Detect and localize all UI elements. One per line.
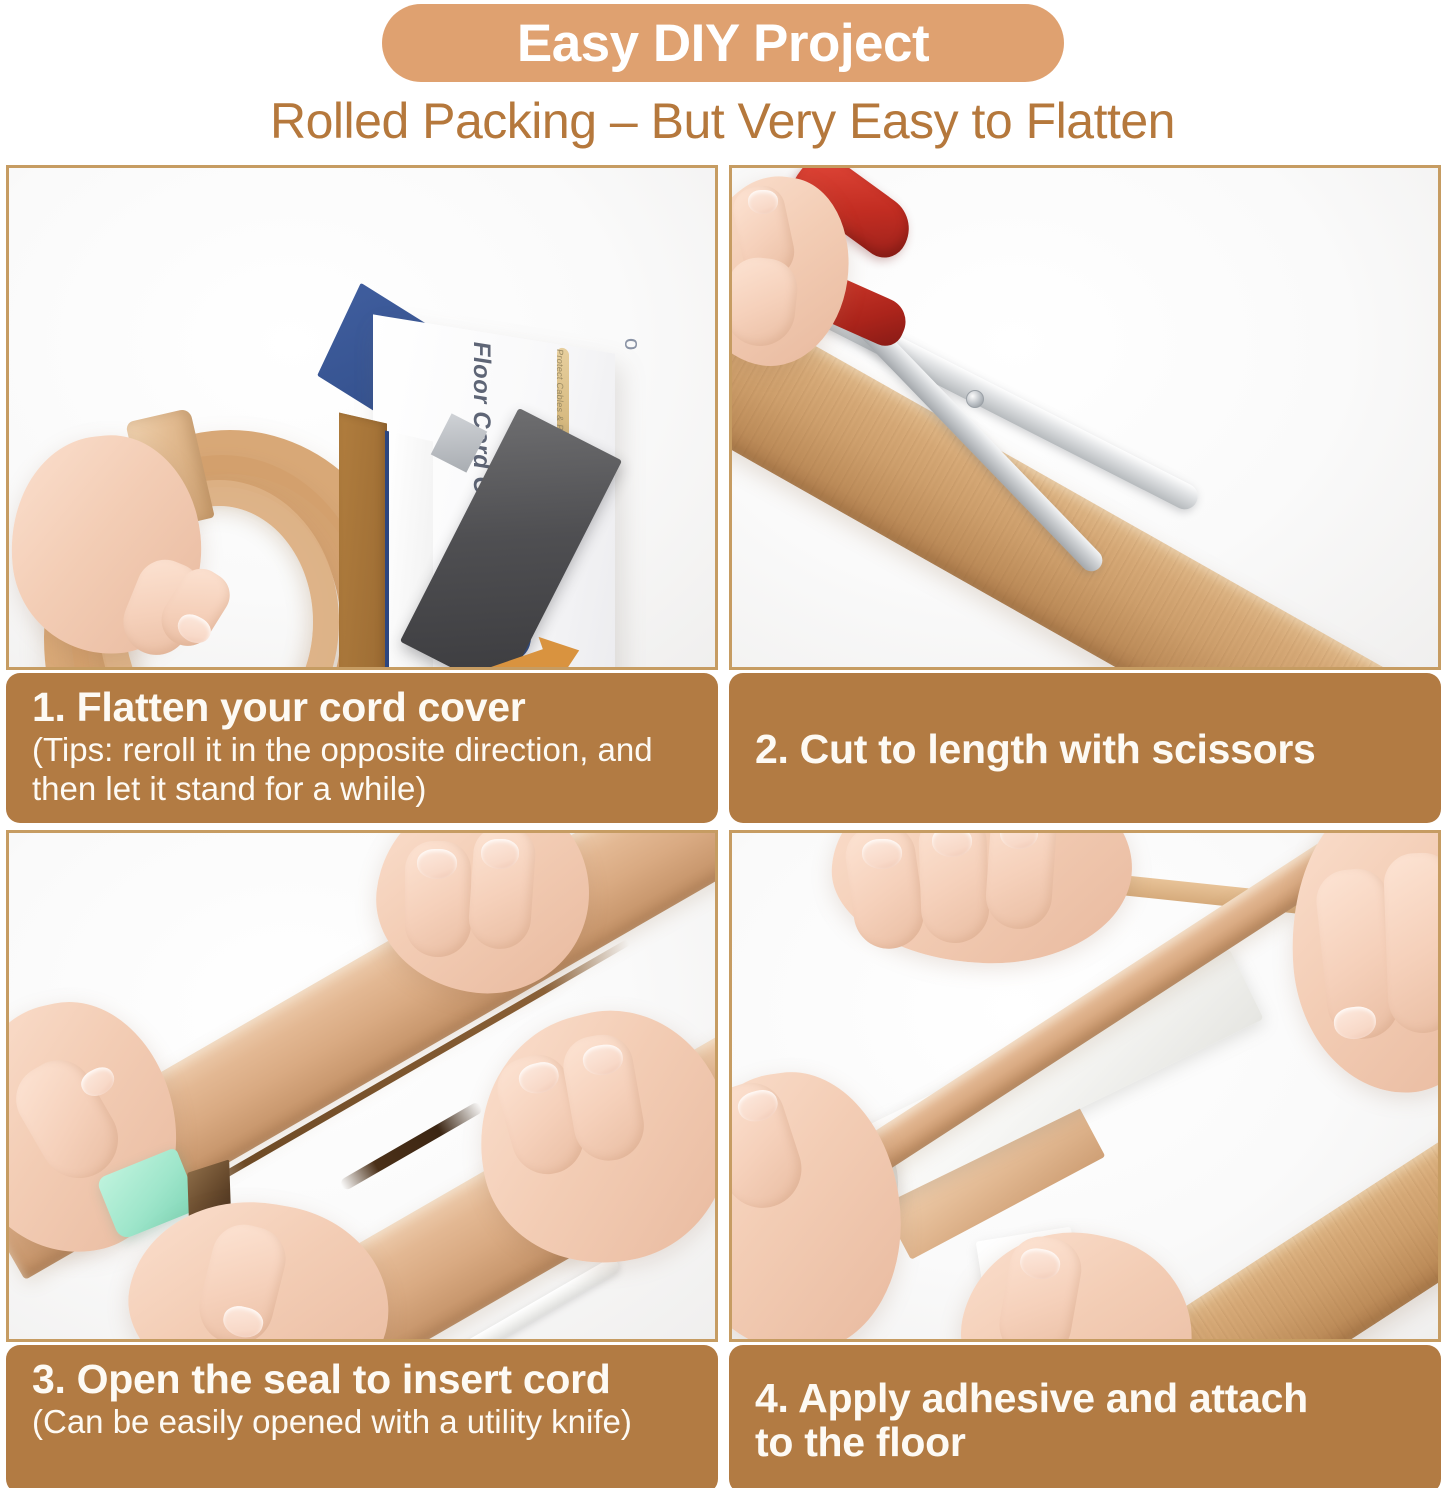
- fingernail: [748, 190, 778, 214]
- scissors-pivot-screw: [966, 390, 984, 408]
- step-1-tip-line-1: (Tips: reroll it in the opposite directi…: [32, 731, 653, 768]
- product-box-brand: o: [619, 338, 645, 350]
- step-4-title-line-2: to the floor: [755, 1420, 1415, 1464]
- step-3-title: 3. Open the seal to insert cord: [32, 1357, 692, 1401]
- step-1-caption: 1. Flatten your cord cover (Tips: reroll…: [6, 673, 718, 823]
- step-4-title: 4. Apply adhesive and attach: [755, 1376, 1415, 1420]
- step-1-title: 1. Flatten your cord cover: [32, 685, 692, 729]
- finger: [1383, 852, 1441, 1034]
- step-2-photo: [729, 165, 1441, 670]
- step-4-photo: [729, 830, 1441, 1342]
- fingernail: [862, 839, 902, 869]
- step-2-title: 2. Cut to length with scissors: [755, 727, 1415, 771]
- page-subtitle: Rolled Packing – But Very Easy to Flatte…: [0, 92, 1445, 150]
- step-panel-2: 2. Cut to length with scissors: [729, 165, 1441, 823]
- step-panel-4: 4. Apply adhesive and attach to the floo…: [729, 830, 1441, 1488]
- product-box-side-flap: [339, 412, 387, 670]
- step-2-caption: 2. Cut to length with scissors: [729, 673, 1441, 823]
- title-badge-text: Easy DIY Project: [517, 17, 929, 70]
- title-badge: Easy DIY Project: [382, 4, 1064, 82]
- fingernail: [481, 839, 519, 869]
- step-3-tip: (Can be easily opened with a utility kni…: [32, 1403, 692, 1442]
- header: Easy DIY Project Rolled Packing – But Ve…: [0, 0, 1445, 160]
- step-1-photo: Floor Cord Cover Protect Cables & Preven…: [6, 165, 718, 670]
- fingernail: [417, 849, 457, 879]
- steps-grid: Floor Cord Cover Protect Cables & Preven…: [0, 160, 1445, 1483]
- step-3-photo: [6, 830, 718, 1342]
- step-3-caption: 3. Open the seal to insert cord (Can be …: [6, 1345, 718, 1488]
- step-1-tip-line-2: then let it stand for a while): [32, 770, 692, 809]
- step-panel-1: Floor Cord Cover Protect Cables & Preven…: [6, 165, 718, 823]
- step-3-tip-line-1: (Can be easily opened with a utility kni…: [32, 1403, 632, 1440]
- step-panel-3: 3. Open the seal to insert cord (Can be …: [6, 830, 718, 1488]
- step-4-caption: 4. Apply adhesive and attach to the floo…: [729, 1345, 1441, 1488]
- step-1-tip: (Tips: reroll it in the opposite directi…: [32, 731, 692, 809]
